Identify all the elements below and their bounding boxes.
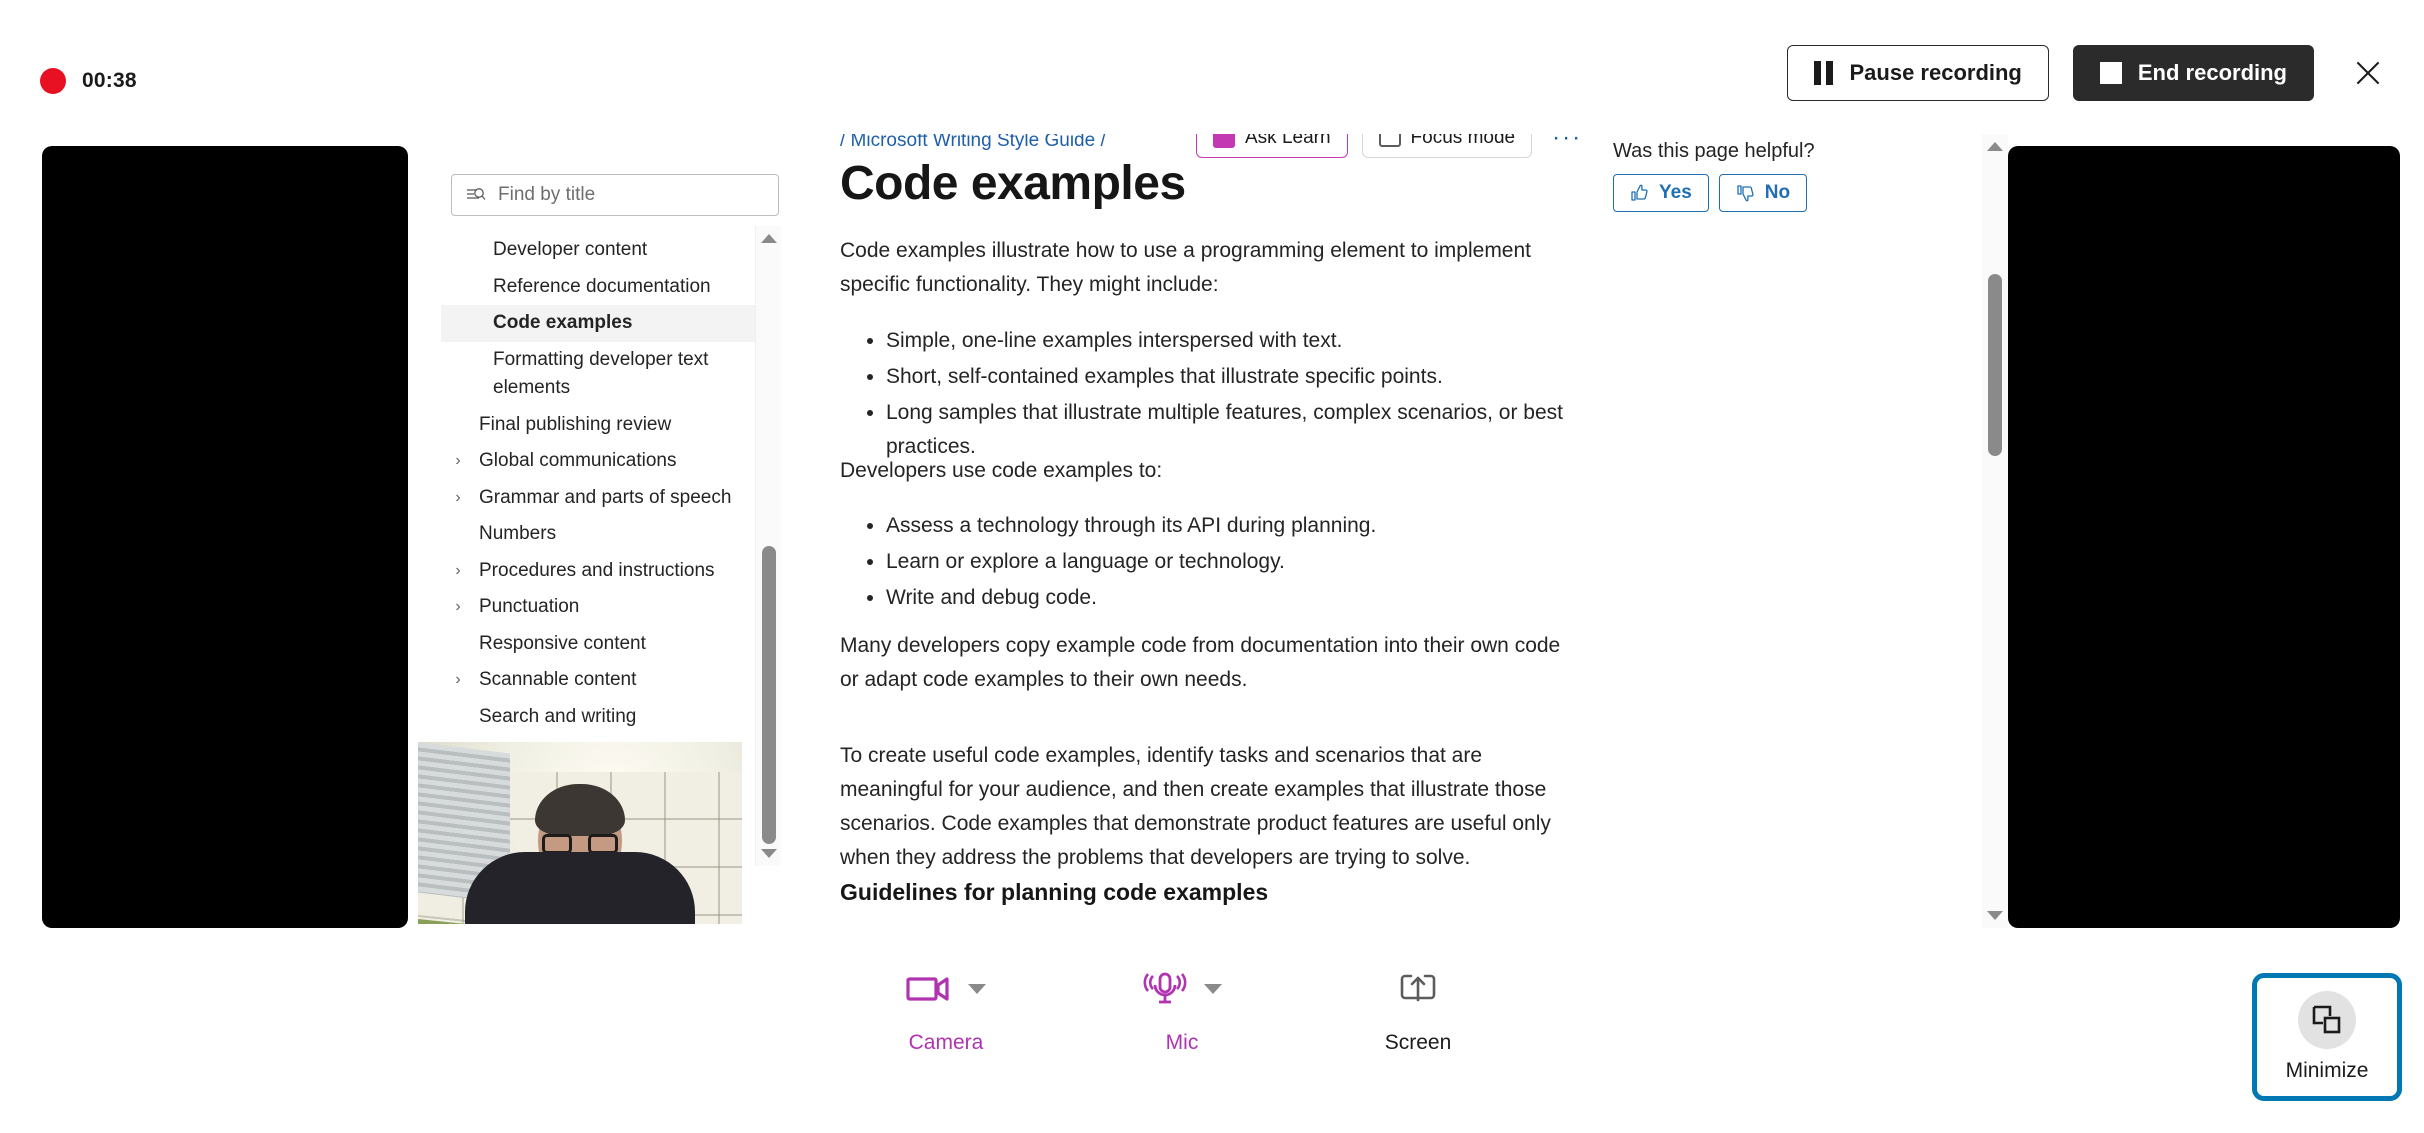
section-heading-guidelines: Guidelines for planning code examples [840,879,1268,906]
device-toolbar: Camera Mic [880,965,1484,1055]
chevron-right-icon[interactable]: › [451,447,465,475]
ask-learn-button[interactable]: Ask Learn [1196,134,1348,158]
toc-item-scannable-content[interactable]: › Scannable content [441,662,769,699]
screen-share-icon [1398,972,1438,1006]
toc-item-label: Responsive content [471,630,646,659]
scroll-up-icon[interactable] [761,234,777,243]
feedback-question: Was this page helpful? [1613,140,1815,163]
toc-item-label: Punctuation [471,593,579,622]
end-recording-label: End recording [2138,60,2287,86]
paragraph-copy-examples: Many developers copy example code from d… [840,629,1570,697]
webcam-person-glasses [542,834,618,854]
close-icon[interactable] [2344,49,2392,97]
chevron-right-icon[interactable]: › [451,666,465,694]
breadcrumb[interactable]: / Microsoft Writing Style Guide / [840,134,1106,152]
scroll-down-icon[interactable] [1987,911,2003,920]
toc-item-search-and-writing[interactable]: › Search and writing [441,699,769,736]
camera-icon [906,973,952,1005]
list-code-example-types: Simple, one-line examples interspersed w… [840,324,1570,466]
feedback-yes-label: Yes [1659,182,1692,204]
toc-item-label: Code examples [471,309,632,338]
focus-mode-label: Focus mode [1411,134,1516,149]
scroll-down-icon[interactable] [761,849,777,858]
sparkle-badge-icon [1213,134,1235,148]
list-developer-uses: Assess a technology through its API duri… [840,509,1570,617]
camera-control[interactable]: Camera [880,965,1012,1055]
feedback-no-label: No [1765,182,1790,204]
find-by-title-search[interactable]: Find by title [451,174,779,216]
screen-label: Screen [1385,1031,1452,1055]
document-scrollbar[interactable] [1982,134,2008,928]
toc-item-label: Scannable content [471,666,636,695]
toc-item-responsive-content[interactable]: › Responsive content [441,626,769,663]
toc-item-label: Procedures and instructions [471,557,715,586]
toc-item-global-communications[interactable]: › Global communications [441,443,769,480]
lead-developers-use: Developers use code examples to: [840,454,1570,488]
document-scrollbar-thumb[interactable] [1988,274,2002,456]
screen-recorder-overlay: 00:38 Pause recording End recording [0,0,2424,1133]
chevron-right-icon[interactable]: › [451,593,465,621]
sidebar-scrollbar[interactable] [755,226,781,866]
camera-label: Camera [909,1031,984,1055]
feedback-no-button[interactable]: No [1719,174,1807,212]
end-recording-button[interactable]: End recording [2073,45,2314,101]
minimize-button[interactable]: Minimize [2252,973,2402,1101]
camera-dropdown-icon[interactable] [968,984,986,994]
toc-item-label: Final publishing review [471,411,671,440]
pause-recording-label: Pause recording [1849,60,2021,86]
microphone-icon [1142,971,1188,1007]
toc-item-code-examples[interactable]: › Code examples [441,305,769,342]
stop-icon [2100,62,2122,84]
find-by-title-icon [466,185,486,205]
mic-dropdown-icon[interactable] [1204,984,1222,994]
recording-controls: Pause recording End recording [1787,45,2392,101]
toc-item-label: Search and writing [471,703,636,732]
thumbs-down-icon [1736,183,1756,203]
webcam-preview[interactable] [418,742,742,924]
minimize-label: Minimize [2286,1059,2369,1083]
mic-control[interactable]: Mic [1116,965,1248,1055]
restore-window-icon [2310,1003,2344,1037]
chevron-right-icon[interactable]: › [451,484,465,512]
toc-item-grammar-and-parts-of-speech[interactable]: › Grammar and parts of speech [441,480,769,517]
feedback-buttons: Yes No [1613,174,1807,212]
toc-item-formatting-developer-text-elements[interactable]: › Formatting developer text elements [441,342,769,407]
toc-item-reference-documentation[interactable]: › Reference documentation [441,269,769,306]
intro-paragraph: Code examples illustrate how to use a pr… [840,234,1570,302]
ask-learn-label: Ask Learn [1245,134,1331,149]
screen-share-letterbox-right [2008,146,2400,928]
chevron-right-icon[interactable]: › [451,557,465,585]
toc-item-developer-content[interactable]: › Developer content [441,232,769,269]
article-actions: Ask Learn Focus mode ··· [1196,134,1588,158]
paragraph-create-useful: To create useful code examples, identify… [840,739,1570,875]
list-item: Write and debug code. [886,581,1570,615]
toc-item-label: Numbers [471,520,556,549]
toc-item-label: Global communications [471,447,676,476]
toc-item-label: Grammar and parts of speech [471,484,731,513]
toc-item-procedures-and-instructions[interactable]: › Procedures and instructions [441,553,769,590]
pause-icon [1814,61,1833,85]
toc-item-punctuation[interactable]: › Punctuation [441,589,769,626]
thumbs-up-icon [1630,183,1650,203]
mic-label: Mic [1166,1031,1199,1055]
list-item: Assess a technology through its API duri… [886,509,1570,543]
focus-mode-icon [1379,134,1401,147]
scroll-up-icon[interactable] [1987,142,2003,151]
list-item: Short, self-contained examples that illu… [886,360,1570,394]
screen-share-letterbox-left [42,146,408,928]
pause-recording-button[interactable]: Pause recording [1787,45,2048,101]
toc-item-label: Formatting developer text elements [471,346,759,403]
feedback-yes-button[interactable]: Yes [1613,174,1709,212]
toc-item-numbers[interactable]: › Numbers [441,516,769,553]
list-item: Simple, one-line examples interspersed w… [886,324,1570,358]
screen-control[interactable]: Screen [1352,965,1484,1055]
recording-timer: 00:38 [82,69,137,93]
minimize-icon [2298,991,2356,1049]
more-options-icon[interactable]: ··· [1546,134,1588,152]
recording-indicator-icon [40,68,66,94]
toc-item-label: Reference documentation [471,273,711,302]
webcam-person-body [465,852,695,924]
toc-item-label: Developer content [471,236,647,265]
toc-item-final-publishing-review[interactable]: › Final publishing review [441,407,769,444]
toc-list: › Developer content › Reference document… [441,232,769,735]
recording-status: 00:38 [40,68,137,94]
focus-mode-button[interactable]: Focus mode [1362,134,1533,158]
list-item: Learn or explore a language or technolog… [886,545,1570,579]
page-title: Code examples [840,156,1186,211]
sidebar-scrollbar-thumb[interactable] [762,546,776,844]
find-by-title-placeholder: Find by title [498,184,595,206]
